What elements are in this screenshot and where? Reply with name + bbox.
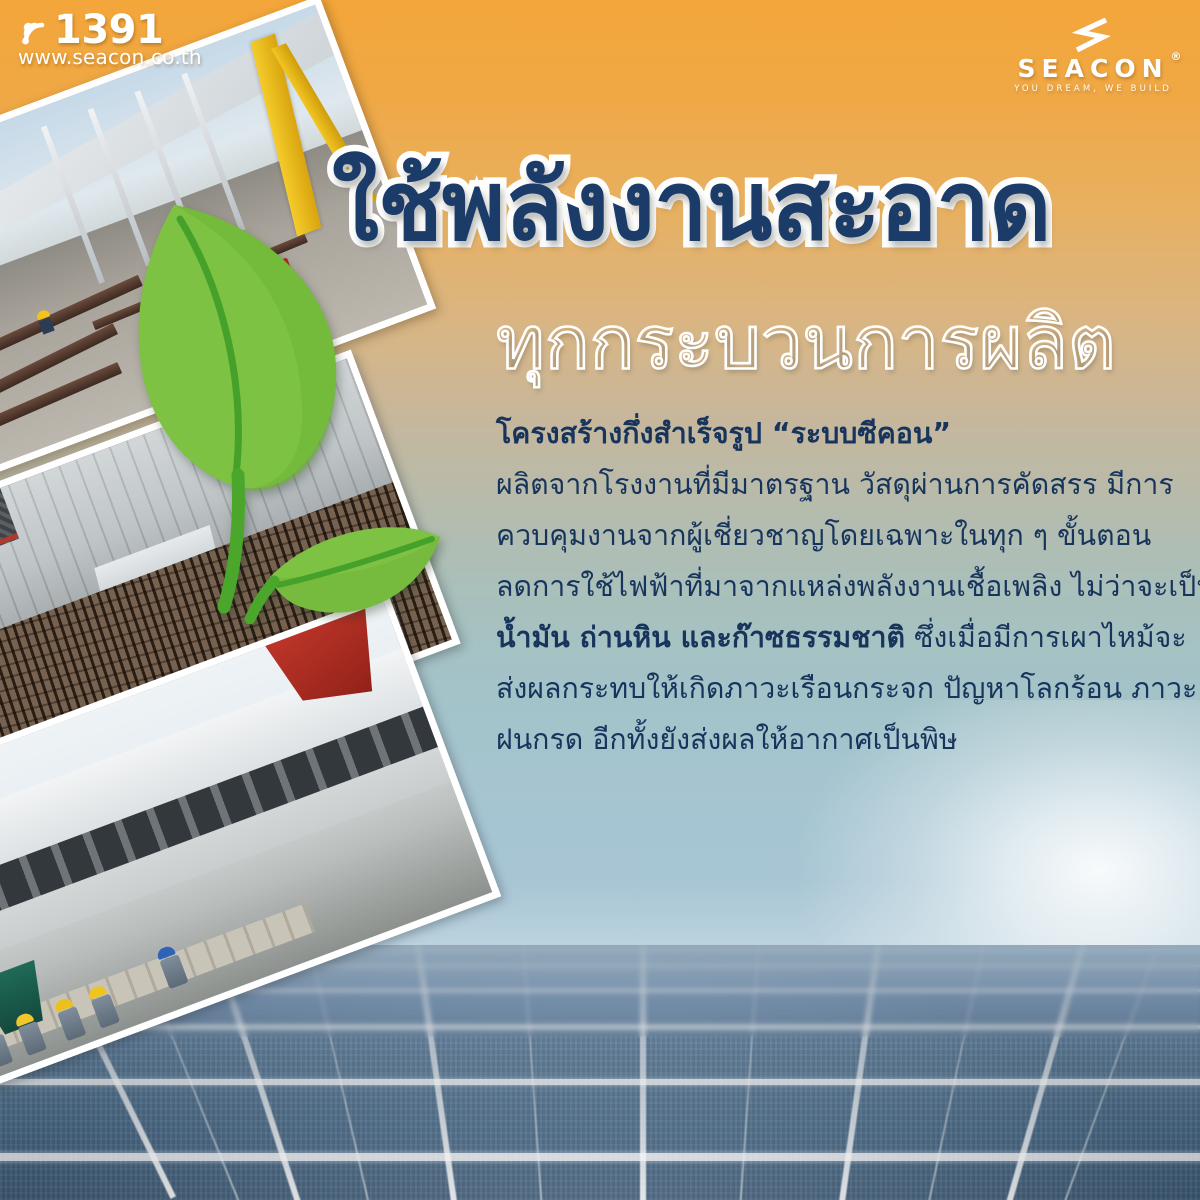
- registered-trademark-icon: ®: [1171, 50, 1182, 63]
- body-line: โครงสร้างกึ่งสำเร็จรูป “ระบบซีคอน”: [496, 408, 1186, 459]
- contact-block: 1391 www.seacon.co.th: [18, 12, 202, 68]
- wifi-signal-icon: [18, 15, 52, 47]
- body-line: น้ำมัน ถ่านหิน และก๊าซธรรมชาติ ซึ่งเมื่อ…: [496, 612, 1186, 663]
- green-sprout-two-leaves-icon: [88, 175, 488, 645]
- body-line-rest: ควบคุมงานจากผู้เชี่ยวชาญโดยเฉพาะในทุก ๆ …: [496, 519, 1151, 552]
- body-line: ส่งผลกระทบให้เกิดภาวะเรือนกระจก ปัญหาโลก…: [496, 663, 1186, 714]
- body-paragraph: โครงสร้างกึ่งสำเร็จรูป “ระบบซีคอน” ผลิตจ…: [496, 408, 1186, 765]
- headline-sub: ทุกกระบวนการผลิต: [496, 306, 1200, 380]
- body-line-bold: น้ำมัน ถ่านหิน และก๊าซธรรมชาติ: [496, 621, 905, 654]
- body-line: ผลิตจากโรงงานที่มีมาตรฐาน วัสดุผ่านการคั…: [496, 459, 1186, 510]
- poster-canvas: 1391 www.seacon.co.th SEACON ® YOU DREAM…: [0, 0, 1200, 1200]
- website-url: www.seacon.co.th: [18, 47, 202, 68]
- hotline-number: 1391: [54, 12, 163, 49]
- brand-name: SEACON ®: [1018, 54, 1169, 83]
- seacon-s-zigzag-logo-icon: [1014, 18, 1172, 52]
- body-line-rest: ลดการใช้ไฟฟ้าที่มาจากแหล่งพลังงานเชื้อเพ…: [496, 570, 1200, 603]
- brand-name-text: SEACON: [1018, 54, 1169, 83]
- body-line-rest: ซึ่งเมื่อมีการเผาไหม้จะ: [905, 621, 1187, 654]
- brand-tagline: YOU DREAM, WE BUILD: [1014, 84, 1172, 94]
- body-line: ฝนกรด อีกทั้งยังส่งผลให้อากาศเป็นพิษ: [496, 714, 1186, 765]
- body-line-rest: ผลิตจากโรงงานที่มีมาตรฐาน วัสดุผ่านการคั…: [496, 468, 1174, 501]
- brand-block: SEACON ® YOU DREAM, WE BUILD: [1014, 18, 1172, 94]
- body-line-rest: ส่งผลกระทบให้เกิดภาวะเรือนกระจก ปัญหาโลก…: [496, 672, 1197, 705]
- body-line-bold: โครงสร้างกึ่งสำเร็จรูป “ระบบซีคอน”: [496, 417, 951, 450]
- body-line: ควบคุมงานจากผู้เชี่ยวชาญโดยเฉพาะในทุก ๆ …: [496, 510, 1186, 561]
- body-line-rest: ฝนกรด อีกทั้งยังส่งผลให้อากาศเป็นพิษ: [496, 723, 958, 756]
- body-line: ลดการใช้ไฟฟ้าที่มาจากแหล่งพลังงานเชื้อเพ…: [496, 561, 1186, 612]
